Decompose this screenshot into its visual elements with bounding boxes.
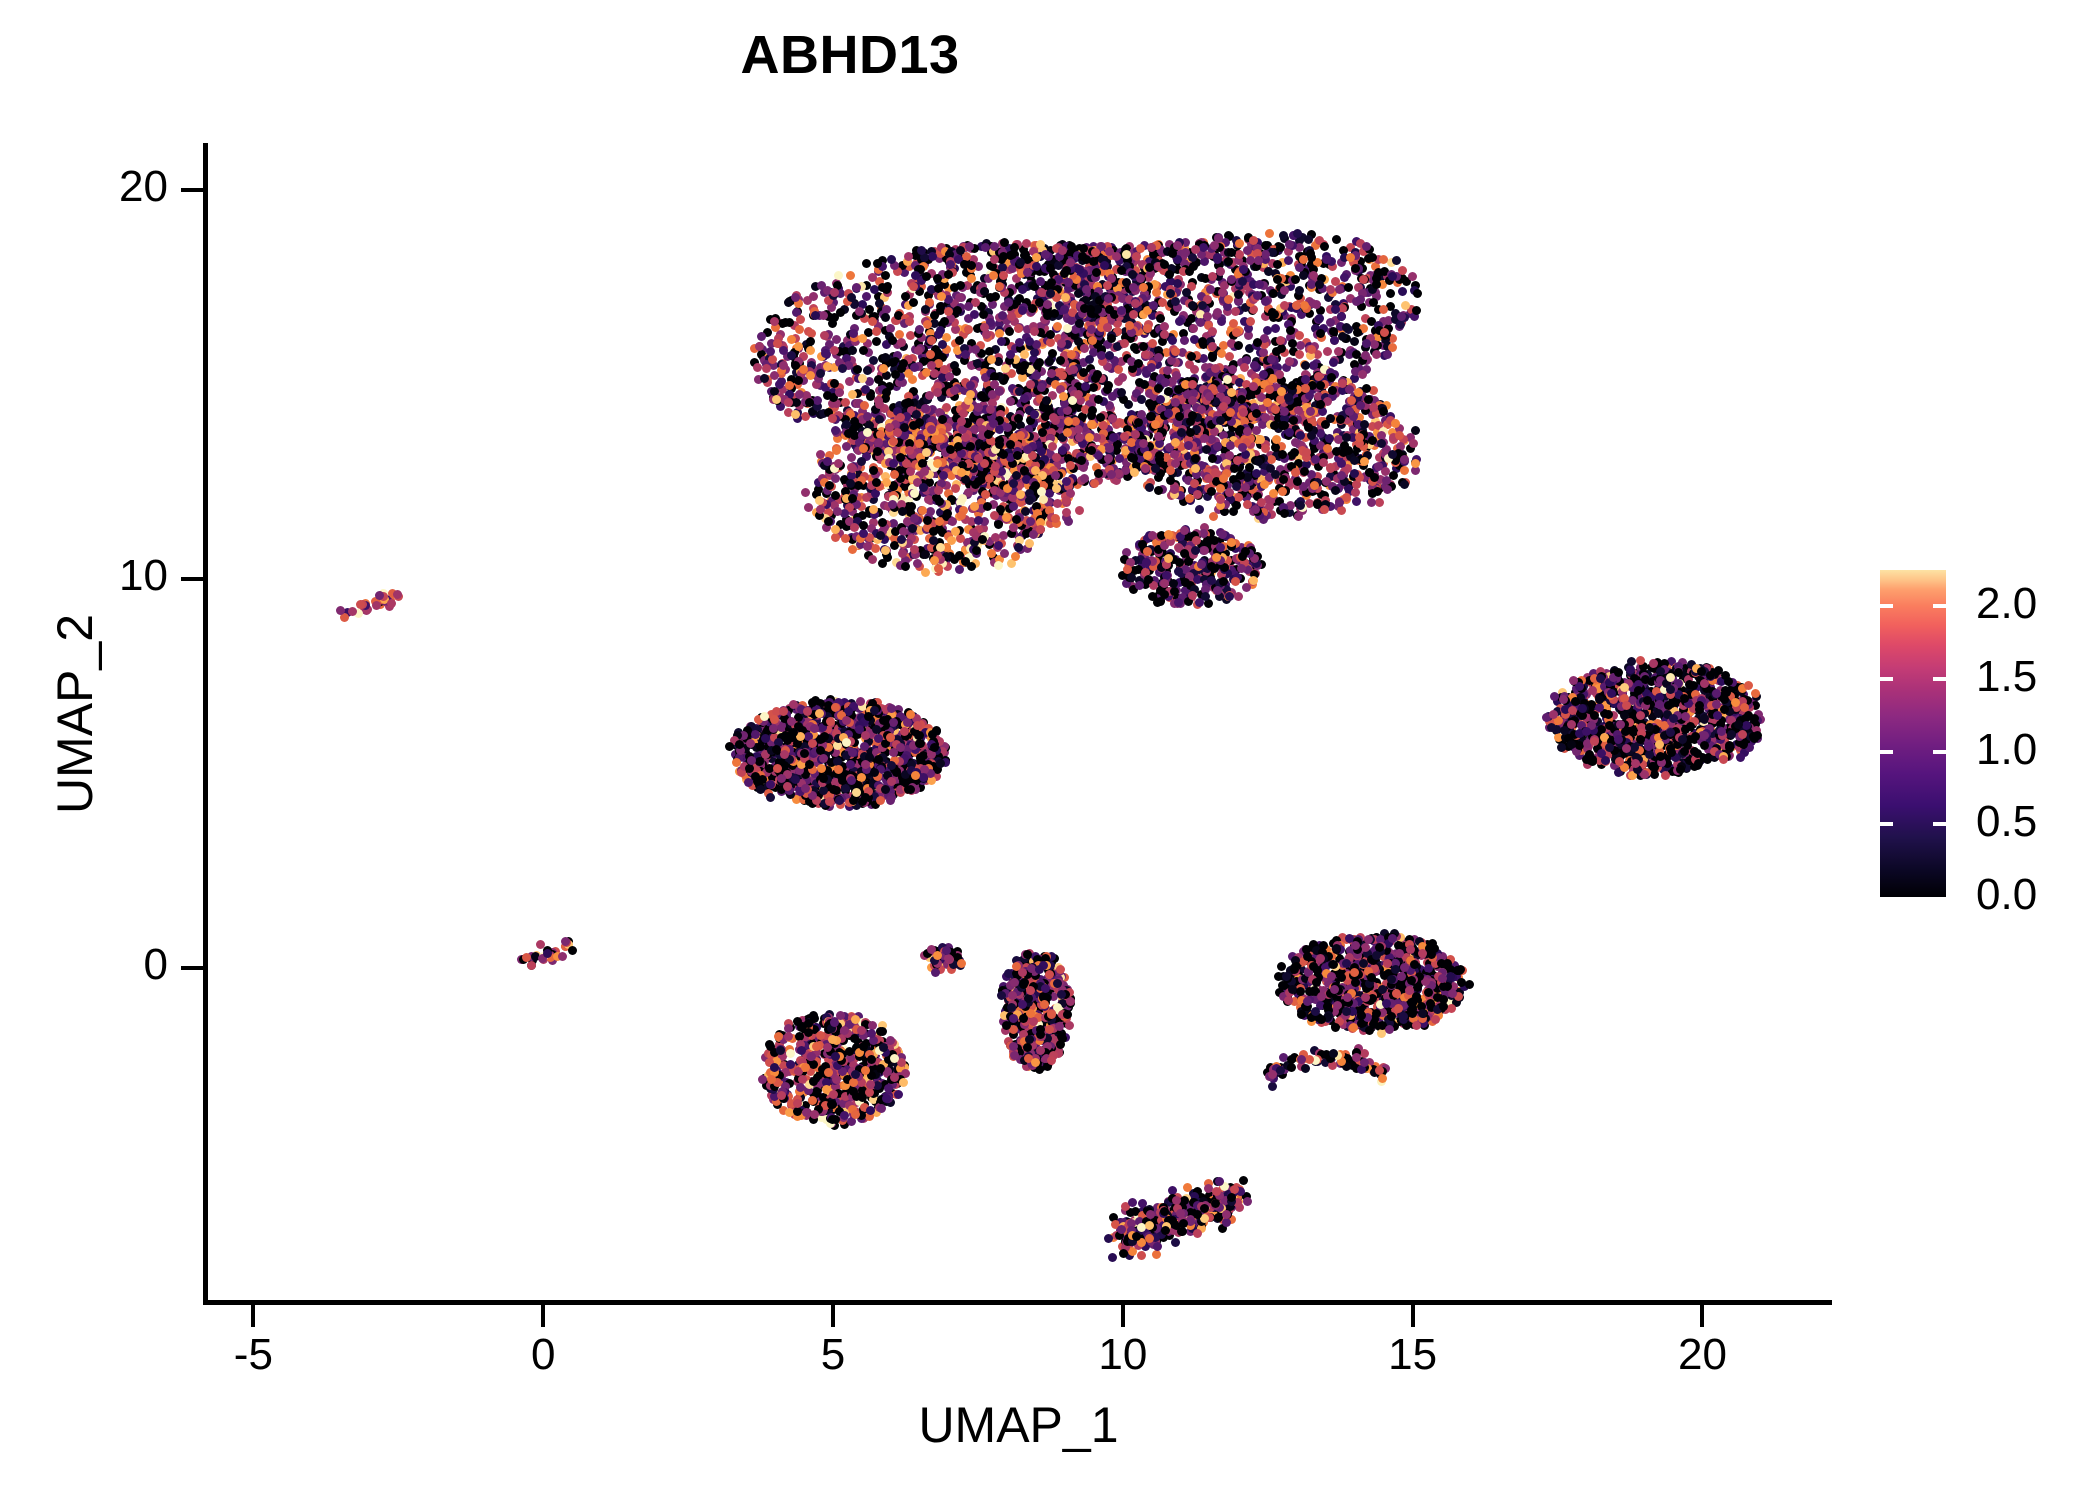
scatter-point [1412,306,1421,315]
scatter-point [1187,352,1196,361]
scatter-point [933,274,942,283]
scatter-point [964,325,973,334]
scatter-point [966,390,975,399]
scatter-point [989,271,998,280]
scatter-point [1015,294,1024,303]
scatter-point [1280,286,1289,295]
scatter-point [1203,312,1212,321]
scatter-point [1129,310,1138,319]
scatter-point [974,454,983,463]
scatter-point [848,346,857,355]
scatter-point [1198,337,1207,346]
scatter-point [929,527,938,536]
scatter-point [1208,327,1217,336]
scatter-point [898,549,907,558]
scatter-point [1118,373,1127,382]
scatter-point [979,310,988,319]
scatter-point [1284,256,1293,265]
scatter-point [944,307,953,316]
scatter-point [1075,319,1084,328]
scatter-point [905,446,914,455]
scatter-point [1217,384,1226,393]
scatter-point [1351,488,1360,497]
scatter-point [1379,305,1388,314]
scatter-point [1350,337,1359,346]
scatter-point [1030,327,1039,336]
scatter-point [888,358,897,367]
scatter-point [833,507,842,516]
scatter-point [805,398,814,407]
scatter-point [1332,235,1341,244]
scatter-point [831,533,840,542]
scatter-point [923,320,932,329]
scatter-point [1330,336,1339,345]
scatter-point [1322,255,1331,264]
scatter-point [1086,305,1095,314]
scatter-point [1085,355,1094,364]
scatter-point [930,369,939,378]
scatter-point [1368,253,1377,262]
scatter-point [887,255,896,264]
scatter-point [1334,347,1343,356]
scatter-point [878,518,887,527]
scatter-point [806,346,815,355]
scatter-point [1099,421,1108,430]
scatter-point [1171,297,1180,306]
scatter-point [806,337,815,346]
scatter-point [1154,353,1163,362]
scatter-point [781,318,790,327]
scatter-point [951,527,960,536]
scatter-point [948,517,957,526]
scatter-point [1273,260,1282,269]
scatter-point [1259,370,1268,379]
scatter-point [1353,328,1362,337]
scatter-point [1294,512,1303,521]
scatter-point [926,350,935,359]
scatter-point [1094,469,1103,478]
scatter-point [835,388,844,397]
scatter-point [1081,382,1090,391]
scatter-point [1117,388,1126,397]
scatter-point [1061,293,1070,302]
scatter-point [1058,371,1067,380]
scatter-point [1213,253,1222,262]
scatter-point [1032,371,1041,380]
scatter-point [938,415,947,424]
scatter-point [1229,319,1238,328]
scatter-point [990,511,999,520]
scatter-point [882,388,891,397]
scatter-point [1059,392,1068,401]
scatter-point [978,535,987,544]
scatter-point [911,271,920,280]
scatter-point [809,292,818,301]
scatter-point [1408,272,1417,281]
scatter-point [999,271,1008,280]
scatter-point [990,255,999,264]
scatter-point [1253,291,1262,300]
scatter-point [1285,240,1294,249]
scatter-point [1122,250,1131,259]
scatter-point [1358,370,1367,379]
scatter-point [970,310,979,319]
scatter-point [909,298,918,307]
scatter-point [1224,257,1233,266]
scatter-point [1020,350,1029,359]
scatter-point [850,523,859,532]
scatter-point [971,480,980,489]
scatter-point [1191,245,1200,254]
scatter-point [1051,471,1060,480]
scatter-point [954,442,963,451]
scatter-point [1154,486,1163,495]
scatter-point [1175,317,1184,326]
scatter-point [1296,341,1305,350]
scatter-point [859,346,868,355]
scatter-point [1048,442,1057,451]
scatter-point [901,399,910,408]
scatter-point [906,467,915,476]
scatter-point [1217,317,1226,326]
scatter-point [1006,397,1015,406]
scatter-point [1259,348,1268,357]
scatter-point [1131,299,1140,308]
scatter-point [868,317,877,326]
scatter-point [1232,328,1241,337]
scatter-point [762,364,771,373]
scatter-point [926,507,935,516]
scatter-point [821,349,830,358]
scatter-point [834,271,843,280]
scatter-point [1359,275,1368,284]
scatter-point [1028,304,1037,313]
scatter-point [1160,330,1169,339]
scatter-point [1182,288,1191,297]
scatter-point [848,545,857,554]
scatter-point [863,428,872,437]
scatter-point [1022,239,1031,248]
scatter-point [899,359,908,368]
scatter-point [1018,366,1027,375]
scatter-point [901,562,910,571]
scatter-point [874,438,883,447]
scatter-point [1261,241,1270,250]
scatter-point [987,549,996,558]
scatter-point [983,502,992,511]
scatter-point [869,505,878,514]
scatter-point [957,468,966,477]
scatter-point [1392,256,1401,265]
scatter-point [1398,287,1407,296]
scatter-point [897,535,906,544]
scatter-point [1109,433,1118,442]
scatter-point [1295,286,1304,295]
scatter-point [918,506,927,515]
scatter-point [1067,350,1076,359]
scatter-point [1335,285,1344,294]
scatter-point [910,363,919,372]
scatter-point [753,363,762,372]
scatter-point [1161,378,1170,387]
scatter-point [1346,253,1355,262]
scatter-point [1234,341,1243,350]
scatter-point [1225,352,1234,361]
scatter-point [1115,454,1124,463]
scatter-point [1398,266,1407,275]
scatter-point [1023,445,1032,454]
scatter-point [881,271,890,280]
scatter-point [1069,365,1078,374]
scatter-point [1042,396,1051,405]
scatter-point [1105,444,1114,453]
scatter-point [927,425,936,434]
scatter-point [1326,285,1335,294]
scatter-point [865,305,874,314]
scatter-point [910,514,919,523]
scatter-point [1038,428,1047,437]
scatter-point [1125,321,1134,330]
scatter-point [755,342,764,351]
scatter-point [1362,339,1371,348]
scatter-point [857,457,866,466]
scatter-point [1130,343,1139,352]
scatter-point [922,272,931,281]
scatter-point [804,503,813,512]
scatter-point [1018,285,1027,294]
scatter-point [1005,327,1014,336]
scatter-point [1147,363,1156,372]
scatter-point [927,336,936,345]
scatter-point [1074,390,1083,399]
scatter-point [1383,350,1392,359]
scatter-point [1386,289,1395,298]
scatter-point [796,315,805,324]
scatter-point [1032,253,1041,262]
scatter-point [995,282,1004,291]
scatter-point [928,252,937,261]
scatter-point [1199,243,1208,252]
scatter-point [1196,318,1205,327]
scatter-point [1129,283,1138,292]
scatter-point [1090,479,1099,488]
scatter-point [889,437,898,446]
scatter-point [995,387,1004,396]
scatter-point [1239,265,1248,274]
scatter-point [960,260,969,269]
scatter-point [869,466,878,475]
scatter-point [1009,502,1018,511]
scatter-point [834,459,843,468]
scatter-point [1409,439,1418,448]
scatter-point [1004,298,1013,307]
scatter-point [1288,339,1297,348]
scatter-point [1329,358,1338,367]
scatter-point [1043,311,1052,320]
scatter-point [831,525,840,534]
scatter-point [961,350,970,359]
scatter-point [1020,394,1029,403]
scatter-point [1180,336,1189,345]
scatter-point [944,270,953,279]
scatter-point [873,259,882,268]
scatter-point [1036,277,1045,286]
scatter-point [1320,505,1329,514]
scatter-point [1264,267,1273,276]
scatter-point [847,453,856,462]
scatter-point [768,355,777,364]
scatter-point [1014,324,1023,333]
scatter-point [801,488,810,497]
scatter-point [1388,272,1397,281]
scatter-point [850,417,859,426]
scatter-point [1120,339,1129,348]
scatter-point [890,470,899,479]
scatter-point [1016,258,1025,267]
scatter-point [1270,310,1279,319]
scatter-point [1041,250,1050,259]
scatter-point [991,292,1000,301]
scatter-point [955,293,964,302]
scatter-point [1016,431,1025,440]
scatter-point [957,511,966,520]
scatter-point [908,524,917,533]
scatter-point [956,246,965,255]
scatter-point [966,442,975,451]
scatter-point [838,364,847,373]
scatter-point [1340,273,1349,282]
scatter-point [1223,375,1232,384]
scatter-point [1023,268,1032,277]
scatter-point [1063,428,1072,437]
scatter-point [871,544,880,553]
scatter-point [1168,249,1177,258]
scatter-point [1252,469,1261,478]
scatter-point [824,517,833,526]
scatter-point [995,425,1004,434]
scatter-point [1213,308,1222,317]
scatter-point [981,243,990,252]
scatter-point [1163,366,1172,375]
scatter-point [1013,451,1022,460]
scatter-point [934,486,943,495]
scatter-point [784,298,793,307]
scatter-point [986,405,995,414]
scatter-point [955,565,964,574]
umap-feature-plot: ABHD13 -505101520 01020 UMAP_1 UMAP_2 2.… [0,0,2100,1500]
scatter-point [1313,499,1322,508]
scatter-point [958,494,967,503]
scatter-point [1299,271,1308,280]
scatter-point [863,366,872,375]
scatter-point [1064,517,1073,526]
scatter-point [1047,369,1056,378]
scatter-point [832,446,841,455]
scatter-point [1074,425,1083,434]
scatter-point [830,346,839,355]
scatter-point [1209,512,1218,521]
scatter-point [1016,490,1025,499]
scatter-point [1006,350,1015,359]
scatter-point [972,546,981,555]
scatter-point [1046,338,1055,347]
scatter-point [943,509,952,518]
scatter-point [1026,517,1035,526]
scatter-point [888,336,897,345]
scatter-point [1235,239,1244,248]
scatter-point [1064,417,1073,426]
scatter-point [842,442,851,451]
scatter-point [913,559,922,568]
scatter-point [1320,242,1329,251]
scatter-point [905,317,914,326]
scatter-point [1249,236,1258,245]
scatter-point [872,327,881,336]
scatter-point [1047,278,1056,287]
scatter-point [1139,342,1148,351]
scatter-point [1060,305,1069,314]
scatter-point [878,283,887,292]
scatter-point [1087,420,1096,429]
scatter-point [1250,361,1259,370]
scatter-point [1160,260,1169,269]
scatter-point [1000,238,1009,247]
scatter-point [940,317,949,326]
scatter-point [1326,318,1335,327]
scatter-point [1104,381,1113,390]
scatter-point [1000,549,1009,558]
scatter-point [1276,336,1285,345]
scatter-point [868,273,877,282]
scatter-point [757,332,766,341]
scatter-point [1002,513,1011,522]
scatter-point [915,325,924,334]
scatter-point [898,507,907,516]
scatter-point [885,423,894,432]
scatter-point [876,531,885,540]
scatter-point [1243,246,1252,255]
scatter-point [951,484,960,493]
scatter-point [1036,240,1045,249]
scatter-point [874,396,883,405]
scatter-point [881,313,890,322]
scatter-point [1168,336,1177,345]
scatter-point [849,329,858,338]
scatter-point [1413,289,1422,298]
scatter-point [848,494,857,503]
scatter-point [1254,256,1263,265]
scatter-point [1300,301,1309,310]
scatter-point [1134,359,1143,368]
scatter-point [1104,294,1113,303]
scatter-point [907,502,916,511]
page-title: ABHD13 [0,28,1700,82]
scatter-point [982,330,991,339]
scatter-point [1045,357,1054,366]
scatter-point [1058,446,1067,455]
scatter-point [1323,347,1332,356]
scatter-point [904,252,913,261]
scatter-point [1007,312,1016,321]
scatter-point [1279,231,1288,240]
scatter-point [879,364,888,373]
scatter-point [1009,523,1018,532]
scatter-point [896,453,905,462]
scatter-point [820,331,829,340]
scatter-point [853,365,862,374]
scatter-point [1372,280,1381,289]
scatter-point [957,417,966,426]
